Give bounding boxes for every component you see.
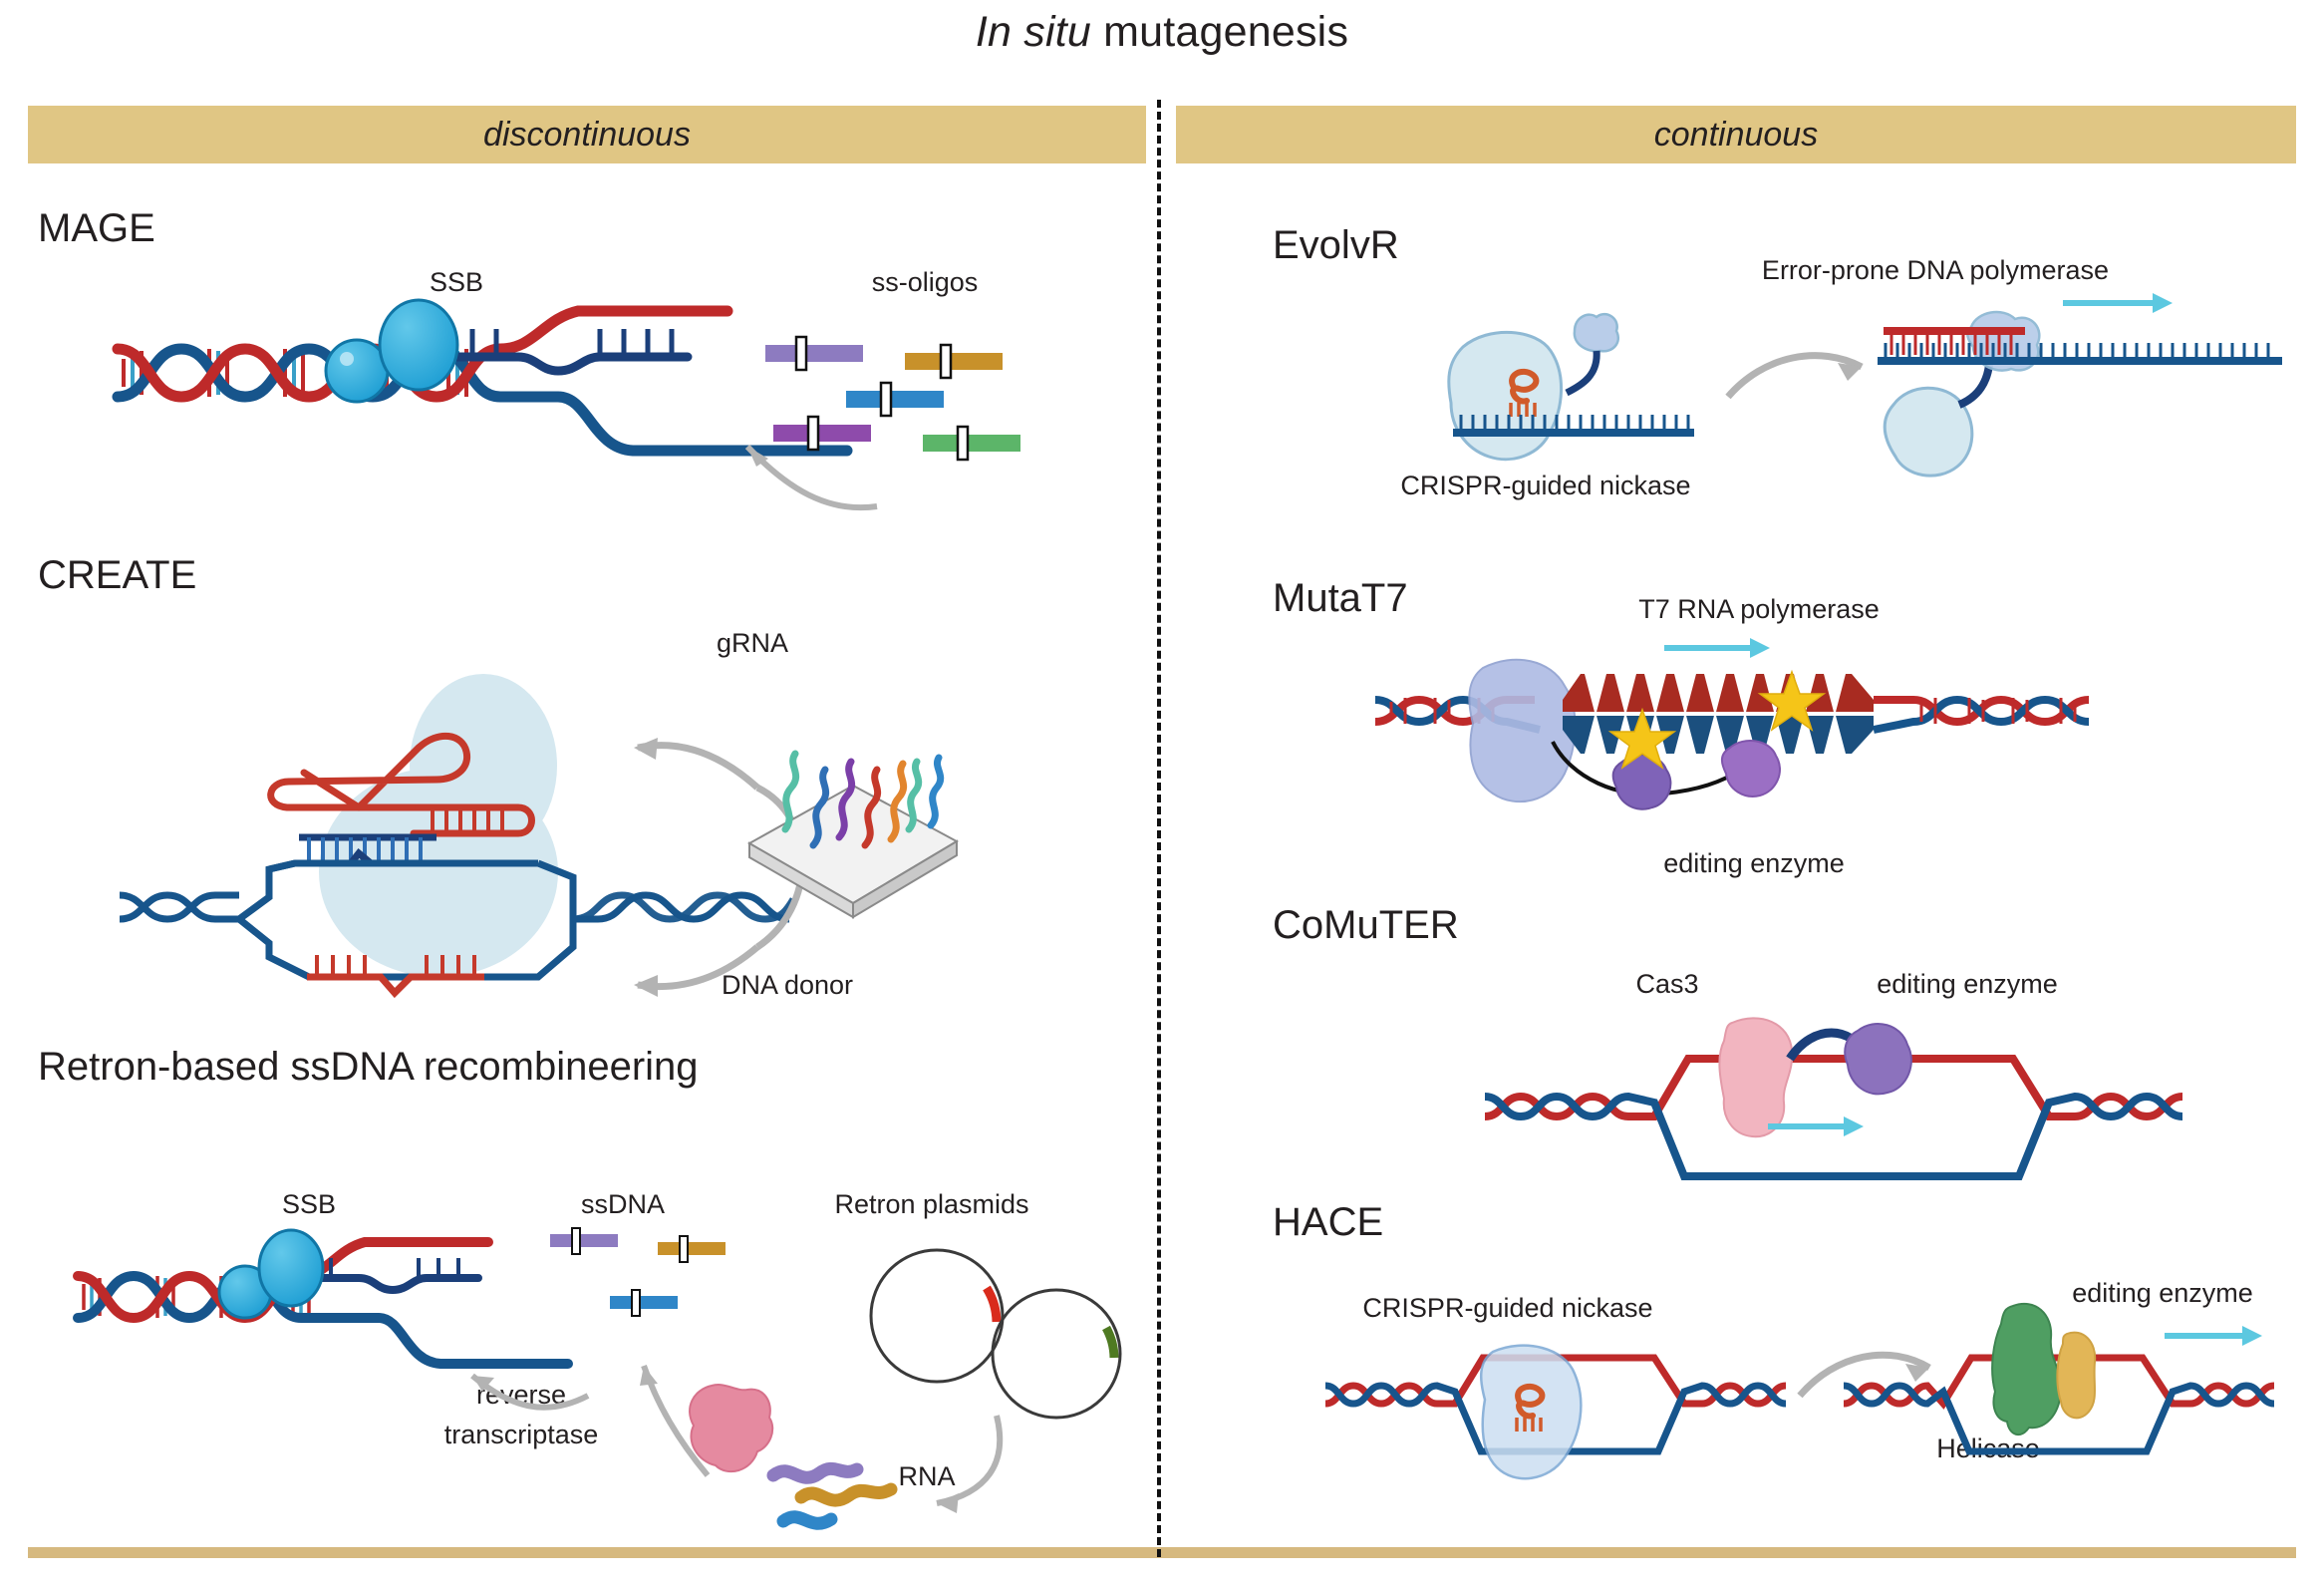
hace-nickase-protein — [1481, 1346, 1581, 1479]
label-ss-oligos: ss-oligos — [872, 267, 979, 298]
column-header-continuous: continuous — [1176, 106, 2296, 163]
oligo-2 — [905, 345, 1003, 378]
label-cas3: Cas3 — [1635, 969, 1698, 1000]
column-header-discontinuous: discontinuous — [28, 106, 1146, 163]
panel-title-mage: MAGE — [38, 206, 155, 251]
oligo-1 — [765, 337, 863, 370]
label-ssb-retron: SSB — [282, 1189, 336, 1220]
page-title-italic: In situ — [976, 8, 1091, 56]
retron-ssdna-1 — [550, 1228, 618, 1254]
editing-enzyme-2 — [1722, 741, 1780, 796]
panel-title-create: CREATE — [38, 553, 196, 598]
oligo-5 — [923, 427, 1020, 460]
diagram-hace — [1325, 1296, 2322, 1525]
panel-title-mutat7: MutaT7 — [1273, 576, 1408, 621]
label-ssdna: ssDNA — [581, 1189, 665, 1220]
ss-oligos-group — [755, 321, 1114, 510]
panel-title-hace: HACE — [1273, 1200, 1383, 1245]
arrowhead-plasmid-to-rna — [937, 1493, 959, 1513]
plasmid-2 — [993, 1290, 1120, 1418]
rna-squiggles — [773, 1468, 891, 1523]
editing-enzyme-1 — [1613, 755, 1671, 809]
column-header-discontinuous-label: discontinuous — [28, 106, 1146, 163]
diagram-retron — [60, 1226, 1136, 1525]
cas9-lobe-lower — [319, 768, 558, 977]
label-error-prone-polymerase: Error-prone DNA polymerase — [1762, 255, 2109, 286]
dna-left-helix — [120, 863, 295, 919]
nickase-protein-evolvr — [1449, 332, 1562, 459]
column-divider-dashed — [1157, 100, 1161, 1557]
label-t7-rna-polymerase: T7 RNA polymerase — [1638, 594, 1880, 625]
direction-arrow-mutat7 — [1664, 638, 1770, 658]
linker-evolvr — [1567, 351, 1597, 393]
cas3-protein — [1719, 1018, 1792, 1136]
column-header-continuous-label: continuous — [1176, 106, 2296, 163]
panel-title-comuter: CoMuTER — [1273, 903, 1459, 948]
linker-evolvr-right — [1959, 365, 1989, 405]
plasmid-1 — [871, 1250, 1003, 1382]
ssb-protein-large — [380, 300, 457, 390]
reverse-transcriptase-protein — [690, 1385, 772, 1471]
panel-title-retron: Retron-based ssDNA recombineering — [38, 1045, 699, 1090]
retron-strand-blue — [78, 1276, 568, 1364]
ssb-highlight — [340, 352, 354, 366]
t7-rna-polymerase-protein — [1469, 660, 1575, 801]
oligo-4 — [773, 417, 871, 450]
comuter-editing-enzyme — [1845, 1024, 1911, 1094]
arrowhead-grna — [634, 738, 658, 760]
diagram-comuter — [1485, 1007, 2182, 1216]
plasmid-1-insert — [987, 1288, 997, 1322]
comuter-strand-blue — [1485, 1097, 2182, 1176]
oligo-microarray-chip — [735, 734, 965, 923]
comuter-strand-red — [1485, 1059, 2182, 1116]
retron-ssdna-2 — [658, 1236, 726, 1262]
polymerase-domain-evolvr — [1575, 314, 1618, 351]
label-retron-plasmids: Retron plasmids — [834, 1189, 1028, 1220]
chip-top-face — [749, 786, 957, 903]
plasmid-2-insert — [1106, 1328, 1114, 1358]
direction-arrow-hace — [2165, 1326, 2262, 1346]
retron-ssdna-3 — [610, 1290, 678, 1316]
hace-editing-enzyme — [2057, 1333, 2095, 1419]
label-ssb-mage: SSB — [430, 267, 483, 298]
panel-title-evolvr: EvolvR — [1273, 223, 1399, 268]
label-editing-enzyme-comuter: editing enzyme — [1877, 969, 2058, 1000]
page-title-rest: mutagenesis — [1091, 8, 1348, 56]
arrowhead-donor — [634, 975, 658, 997]
retron-ssb-large — [259, 1230, 323, 1306]
arrow-evolvr-transition — [1728, 356, 1862, 397]
helicase-protein — [1992, 1304, 2061, 1434]
oligo-3 — [846, 383, 944, 416]
direction-arrow-evolvr — [2063, 293, 2173, 313]
bottom-rule — [28, 1547, 2296, 1558]
arrow-plasmid-to-rna — [937, 1416, 1000, 1503]
diagram-evolvr — [1276, 289, 2312, 488]
diagram-mutat7 — [1375, 638, 2153, 857]
page-title: In situ mutagenesis — [0, 8, 2324, 57]
